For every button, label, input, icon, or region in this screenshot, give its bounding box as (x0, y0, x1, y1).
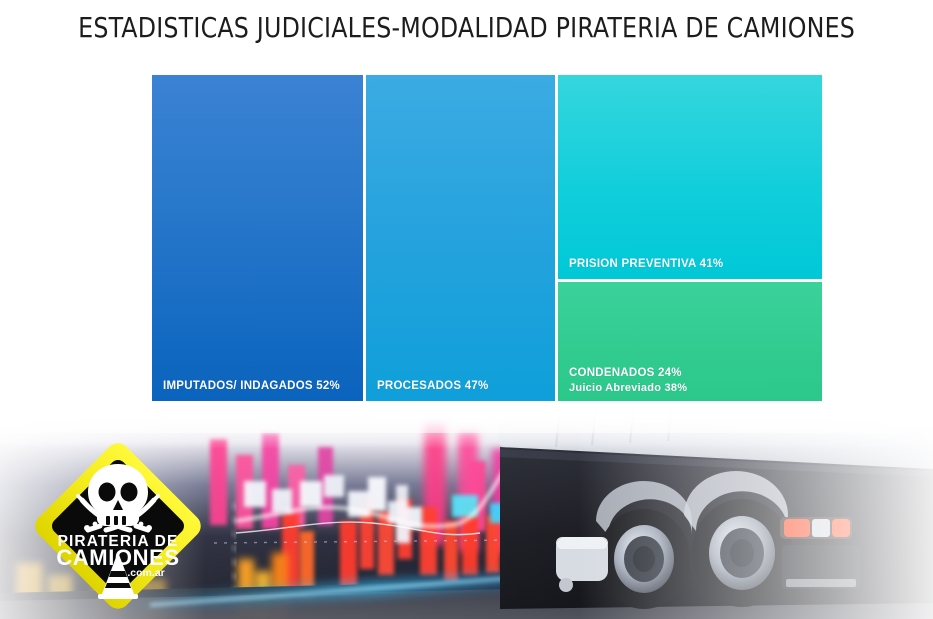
chart-block-prision-preventiva[interactable]: PRISION PREVENTIVA 41% (558, 75, 822, 279)
chart-column-prision-condenados: PRISION PREVENTIVA 41% CONDENADOS 24% Ju… (558, 75, 822, 401)
title-bar: ESTADISTICAS JUDICIALES-MODALIDAD PIRATE… (0, 0, 933, 56)
slide-canvas: ESTADISTICAS JUDICIALES-MODALIDAD PIRATE… (0, 0, 933, 619)
chart-block-condenados[interactable]: CONDENADOS 24% Juicio Abreviado 38% (558, 282, 822, 401)
logo-artwork: PIRATERIA DE CAMIONES .com.ar (26, 434, 210, 618)
chart-block-prision-preventiva-label: PRISION PREVENTIVA 41% (569, 258, 723, 270)
chart-column-procesados: PROCESADOS 47% (366, 75, 555, 401)
chart-block-imputados[interactable]: IMPUTADOS/ INDAGADOS 52% (152, 75, 363, 401)
chart-block-imputados-label: IMPUTADOS/ INDAGADOS 52% (163, 380, 340, 392)
chart-block-procesados-label: PROCESADOS 47% (377, 380, 489, 392)
logo-line-3: .com.ar (127, 567, 164, 579)
chart-block-procesados[interactable]: PROCESADOS 47% (366, 75, 555, 401)
skull-icon (88, 464, 148, 526)
page-title: ESTADISTICAS JUDICIALES-MODALIDAD PIRATE… (78, 12, 855, 44)
chart-column-imputados: IMPUTADOS/ INDAGADOS 52% (152, 75, 363, 401)
chart-block-condenados-label: CONDENADOS 24% (569, 367, 682, 379)
statistics-chart: IMPUTADOS/ INDAGADOS 52% PROCESADOS 47% … (152, 75, 822, 401)
chart-block-juicio-abreviado-label: Juicio Abreviado 38% (569, 382, 687, 394)
site-logo-pirateria-de-camiones[interactable]: PIRATERIA DE CAMIONES .com.ar (26, 434, 210, 618)
